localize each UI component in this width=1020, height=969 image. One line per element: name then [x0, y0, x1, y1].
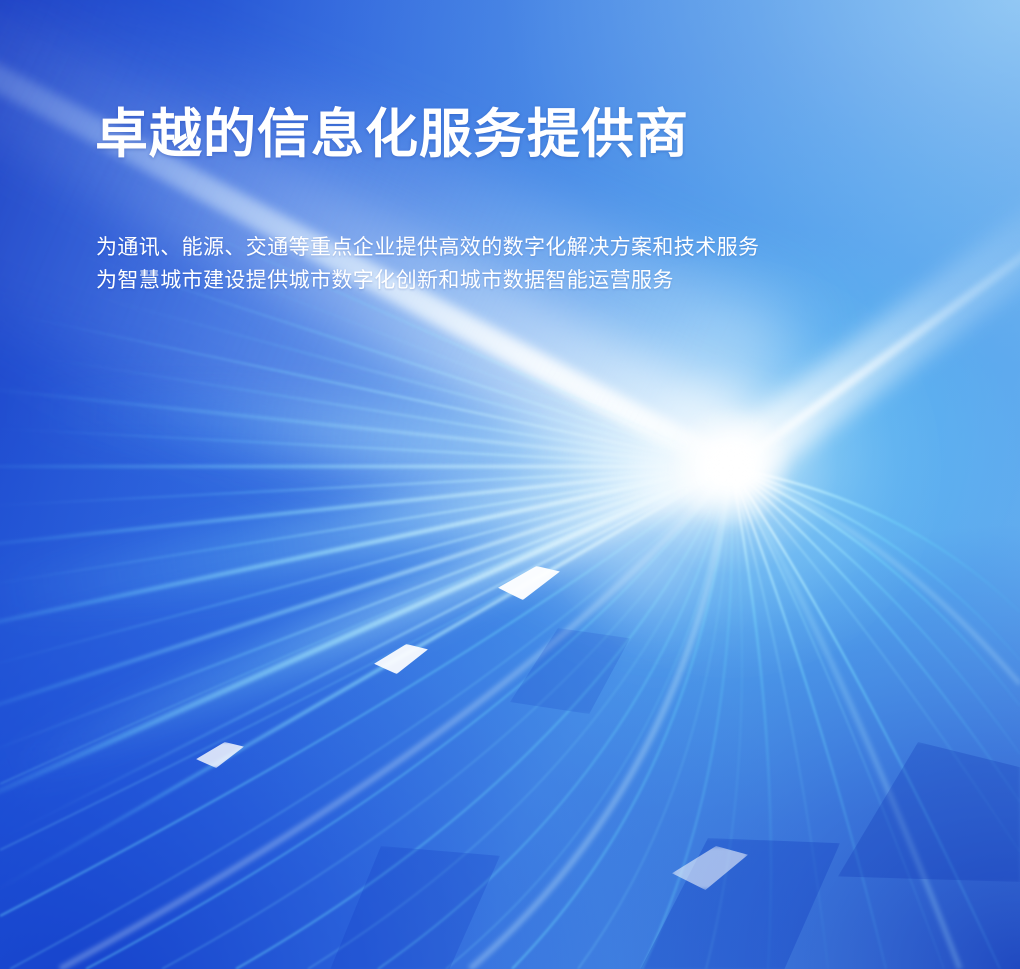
- subtitle-line-2: 为智慧城市建设提供城市数字化创新和城市数据智能运营服务: [96, 264, 759, 297]
- hero-banner: 卓越的信息化服务提供商 为通讯、能源、交通等重点企业提供高效的数字化解决方案和技…: [0, 0, 1020, 969]
- hero-copy: 卓越的信息化服务提供商 为通讯、能源、交通等重点企业提供高效的数字化解决方案和技…: [95, 104, 759, 297]
- vanishing-point-core-glow: [671, 408, 791, 528]
- page-title: 卓越的信息化服务提供商: [95, 104, 759, 165]
- subtitle-line-1: 为通讯、能源、交通等重点企业提供高效的数字化解决方案和技术服务: [96, 231, 759, 264]
- hero-subtitle: 为通讯、能源、交通等重点企业提供高效的数字化解决方案和技术服务 为智慧城市建设提…: [95, 165, 759, 297]
